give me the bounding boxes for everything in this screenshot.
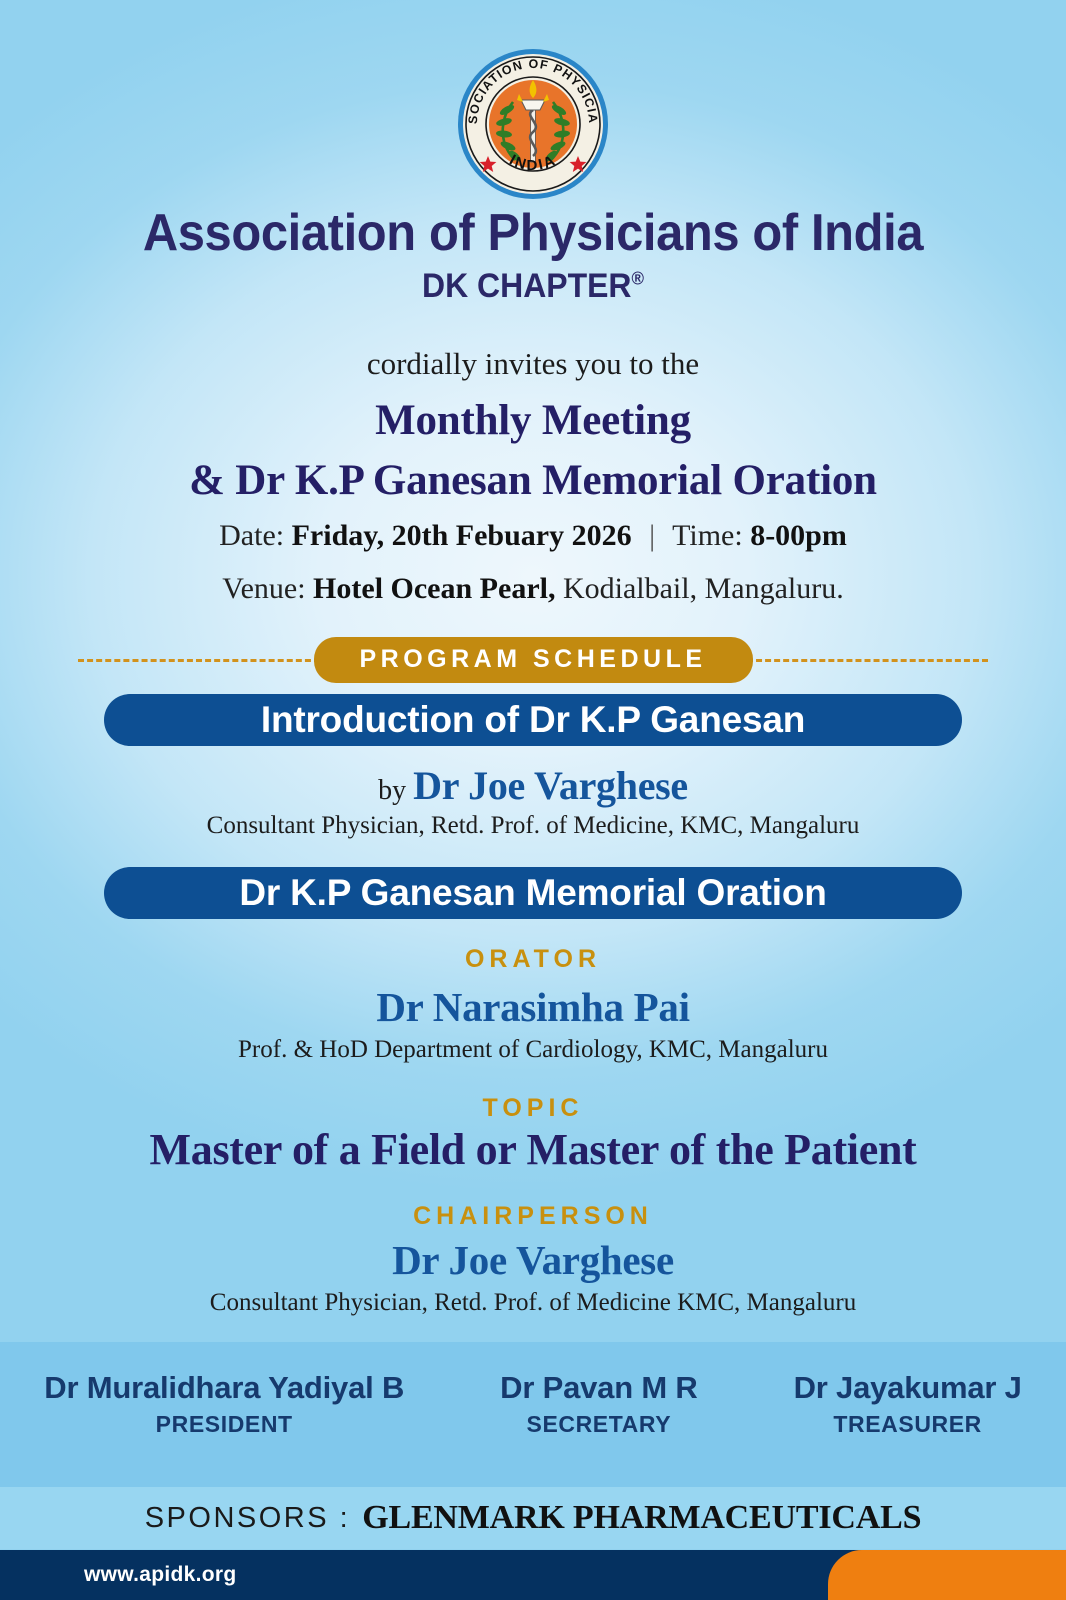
orator-label: ORATOR [0,945,1066,974]
venue-line: Venue: Hotel Ocean Pearl, Kodialbail, Ma… [0,572,1066,606]
venue-address: Kodialbail, Mangaluru. [555,572,843,605]
officer-treasurer: Dr Jayakumar J TREASURER [772,1370,1044,1438]
section-pill-oration: Dr K.P Ganesan Memorial Oration [104,867,962,919]
section-pill-introduction: Introduction of Dr K.P Ganesan [104,694,962,746]
officer-president: Dr Muralidhara Yadiyal B PRESIDENT [22,1370,426,1438]
introduction-speaker-name: Dr Joe Varghese [413,763,688,808]
officer-name: Dr Jayakumar J [794,1370,1022,1406]
dashed-rule-right [747,659,989,662]
officer-name: Dr Muralidhara Yadiyal B [44,1370,404,1406]
topic-value: Master of a Field or Master of the Patie… [0,1124,1066,1175]
chapter-title: DK CHAPTER® [32,267,1034,306]
program-schedule-banner-row: PROGRAM SCHEDULE [78,640,988,680]
officer-secretary: Dr Pavan M R SECRETARY [478,1370,719,1438]
by-prefix: by [378,775,413,806]
officer-role: SECRETARY [500,1411,697,1438]
officers-band: Dr Muralidhara Yadiyal B PRESIDENT Dr Pa… [0,1342,1066,1487]
sponsors-value: GLENMARK PHARMACEUTICALS [362,1499,921,1537]
dashed-rule-left [78,659,320,662]
date-value: Friday, 20th Febuary 2026 [292,519,632,552]
venue-label: Venue: [222,572,305,605]
website-url[interactable]: www.apidk.org [84,1563,236,1587]
time-label: Time: [672,519,743,552]
chairperson-name: Dr Joe Varghese [0,1236,1066,1284]
api-logo-svg: ASSOCIATION OF PHYSICIANS INDIA [457,48,609,200]
program-schedule-banner: PROGRAM SCHEDULE [314,637,753,683]
footer-orange-accent [828,1550,1066,1600]
introduction-speaker-affiliation: Consultant Physician, Retd. Prof. of Med… [0,812,1066,840]
venue-name: Hotel Ocean Pearl, [313,572,555,605]
date-time-separator: | [639,519,665,552]
topic-label: TOPIC [0,1094,1066,1123]
logo-container: ASSOCIATION OF PHYSICIANS INDIA [0,48,1066,200]
orator-affiliation: Prof. & HoD Department of Cardiology, KM… [0,1036,1066,1064]
registered-mark-icon: ® [632,269,644,289]
chairperson-label: CHAIRPERSON [0,1202,1066,1231]
time-value: 8-00pm [750,519,847,552]
org-title: Association of Physicians of India [32,205,1034,261]
meeting-title-line2: & Dr K.P Ganesan Memorial Oration [0,456,1066,505]
cordially-line: cordially invites you to the [0,346,1066,382]
chairperson-affiliation: Consultant Physician, Retd. Prof. of Med… [0,1289,1066,1317]
date-time-line: Date: Friday, 20th Febuary 2026 | Time: … [0,519,1066,553]
chapter-label: DK CHAPTER [422,267,632,305]
officer-name: Dr Pavan M R [500,1370,697,1406]
api-logo: ASSOCIATION OF PHYSICIANS INDIA [457,48,609,200]
sponsors-label: SPONSORS : [145,1502,351,1535]
invitation-poster: ASSOCIATION OF PHYSICIANS INDIA Associat… [0,0,1066,1600]
header-block: Association of Physicians of India DK CH… [0,205,1066,306]
orator-name: Dr Narasimha Pai [0,983,1066,1031]
date-label: Date: [219,519,284,552]
officer-role: TREASURER [794,1411,1022,1438]
footer-bar: www.apidk.org [0,1550,1066,1600]
introduction-speaker-line: by Dr Joe Varghese [0,762,1066,809]
meeting-title-line1: Monthly Meeting [0,396,1066,445]
sponsors-band: SPONSORS : GLENMARK PHARMACEUTICALS [0,1487,1066,1549]
officer-role: PRESIDENT [44,1411,404,1438]
